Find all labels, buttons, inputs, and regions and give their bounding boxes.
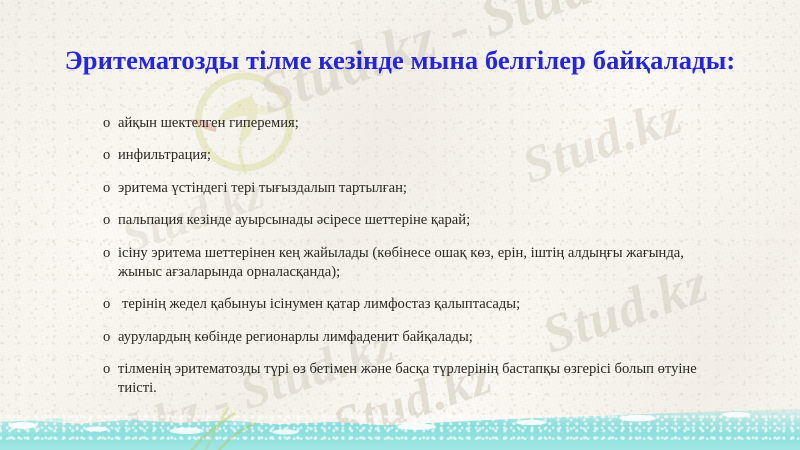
bullet-marker-icon: o: [103, 295, 122, 314]
list-item-text: ісіну эритема шеттерінен кең жайылады (к…: [118, 244, 713, 282]
list-item-text: аурулардың көбінде регионарлы лимфаденит…: [118, 328, 713, 347]
bullet-marker-icon: o: [103, 146, 118, 165]
list-item-text: эритема үстіндегі тері тығыздалып тартыл…: [118, 179, 713, 198]
list-item: o пальпация кезінде ауырсынады әсіресе ш…: [103, 211, 713, 230]
bullet-marker-icon: o: [103, 114, 118, 133]
bullet-marker-icon: o: [103, 211, 118, 230]
bullet-list: o айқын шектелген гиперемия; o инфильтра…: [103, 114, 713, 398]
bullet-marker-icon: o: [103, 244, 118, 263]
list-item: o ісіну эритема шеттерінен кең жайылады …: [103, 244, 713, 282]
list-item-text: терінің жедел қабынуы ісінумен қатар лим…: [122, 295, 713, 314]
bullet-marker-icon: o: [103, 179, 118, 198]
presentation-slide: Stud.kz - Stud.kz Stud.kz Stud.kz Stud.k…: [0, 0, 800, 450]
bullet-marker-icon: o: [103, 360, 118, 379]
list-item: o эритема үстіндегі тері тығыздалып тарт…: [103, 179, 713, 198]
list-item-text: тілменің эритематозды түрі өз бетімен жә…: [118, 360, 713, 398]
list-item-text: пальпация кезінде ауырсынады әсіресе шет…: [118, 211, 713, 230]
bullet-marker-icon: o: [103, 328, 118, 347]
list-item: o терінің жедел қабынуы ісінумен қатар л…: [103, 295, 713, 314]
list-item-text: айқын шектелген гиперемия;: [118, 114, 713, 133]
list-item: o аурулардың көбінде регионарлы лимфаден…: [103, 328, 713, 347]
list-item: o инфильтрация;: [103, 146, 713, 165]
slide-title: Эритематозды тілме кезінде мына белгілер…: [60, 44, 740, 77]
list-item: o тілменің эритематозды түрі өз бетімен …: [103, 360, 713, 398]
list-item-text: инфильтрация;: [118, 146, 713, 165]
slide-content: Эритематозды тілме кезінде мына белгілер…: [0, 0, 800, 450]
list-item: o айқын шектелген гиперемия;: [103, 114, 713, 133]
